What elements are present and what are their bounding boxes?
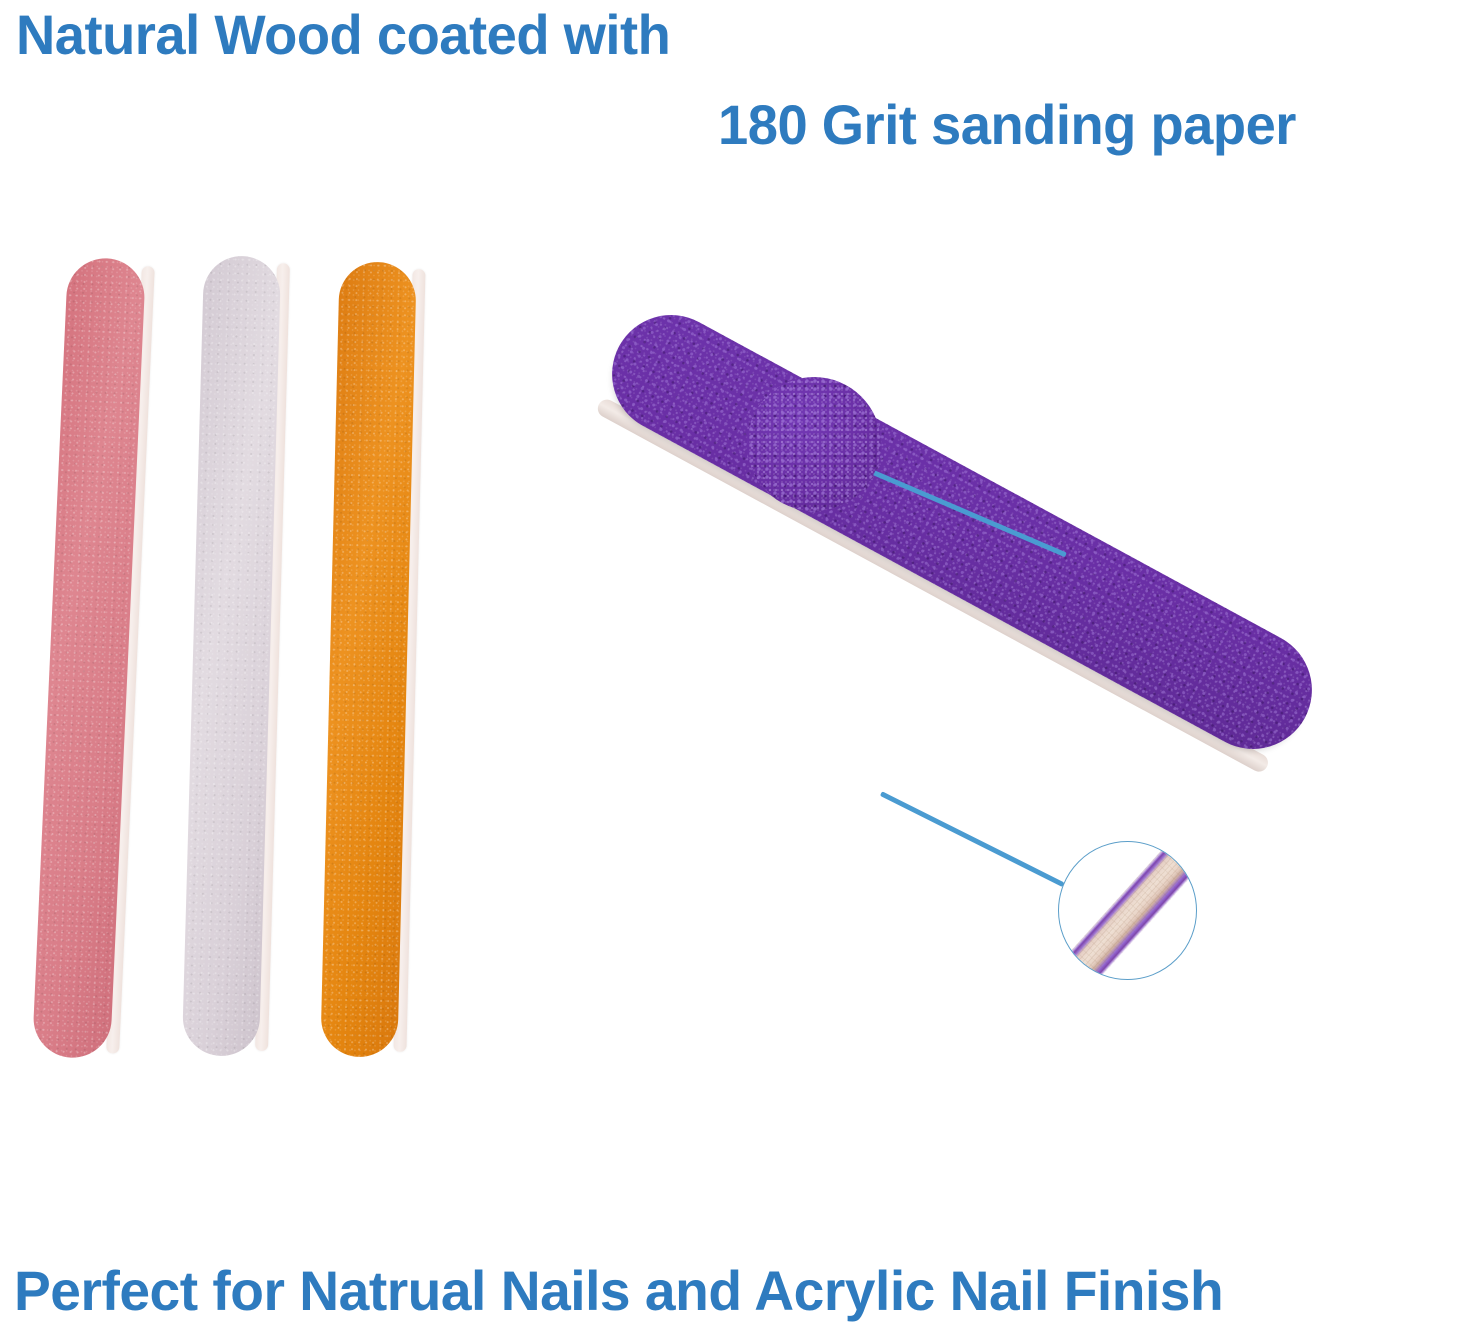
product-marketing-image: Natural Wood coated with 180 Grit sandin… [0, 0, 1479, 1338]
nail-file-orange [320, 261, 416, 1058]
grit-surface [591, 294, 1333, 770]
leader-line-to-cross-section [880, 791, 1065, 887]
wood-grain-texture [1058, 841, 1197, 980]
wood-core-cross-section [1058, 841, 1197, 980]
grit-texture [591, 294, 1333, 770]
nail-file-purple [591, 294, 1333, 770]
callout-edge-cross-section [1058, 841, 1197, 980]
headline-line-1: Natural Wood coated with [16, 2, 670, 67]
footer-tagline: Perfect for Natrual Nails and Acrylic Na… [14, 1258, 1223, 1323]
nail-file-pink [32, 257, 146, 1060]
callout-grit-swatch [747, 377, 881, 511]
nail-file-white [182, 255, 281, 1057]
grit-texture [747, 377, 881, 511]
headline-line-2: 180 Grit sanding paper [718, 92, 1296, 157]
